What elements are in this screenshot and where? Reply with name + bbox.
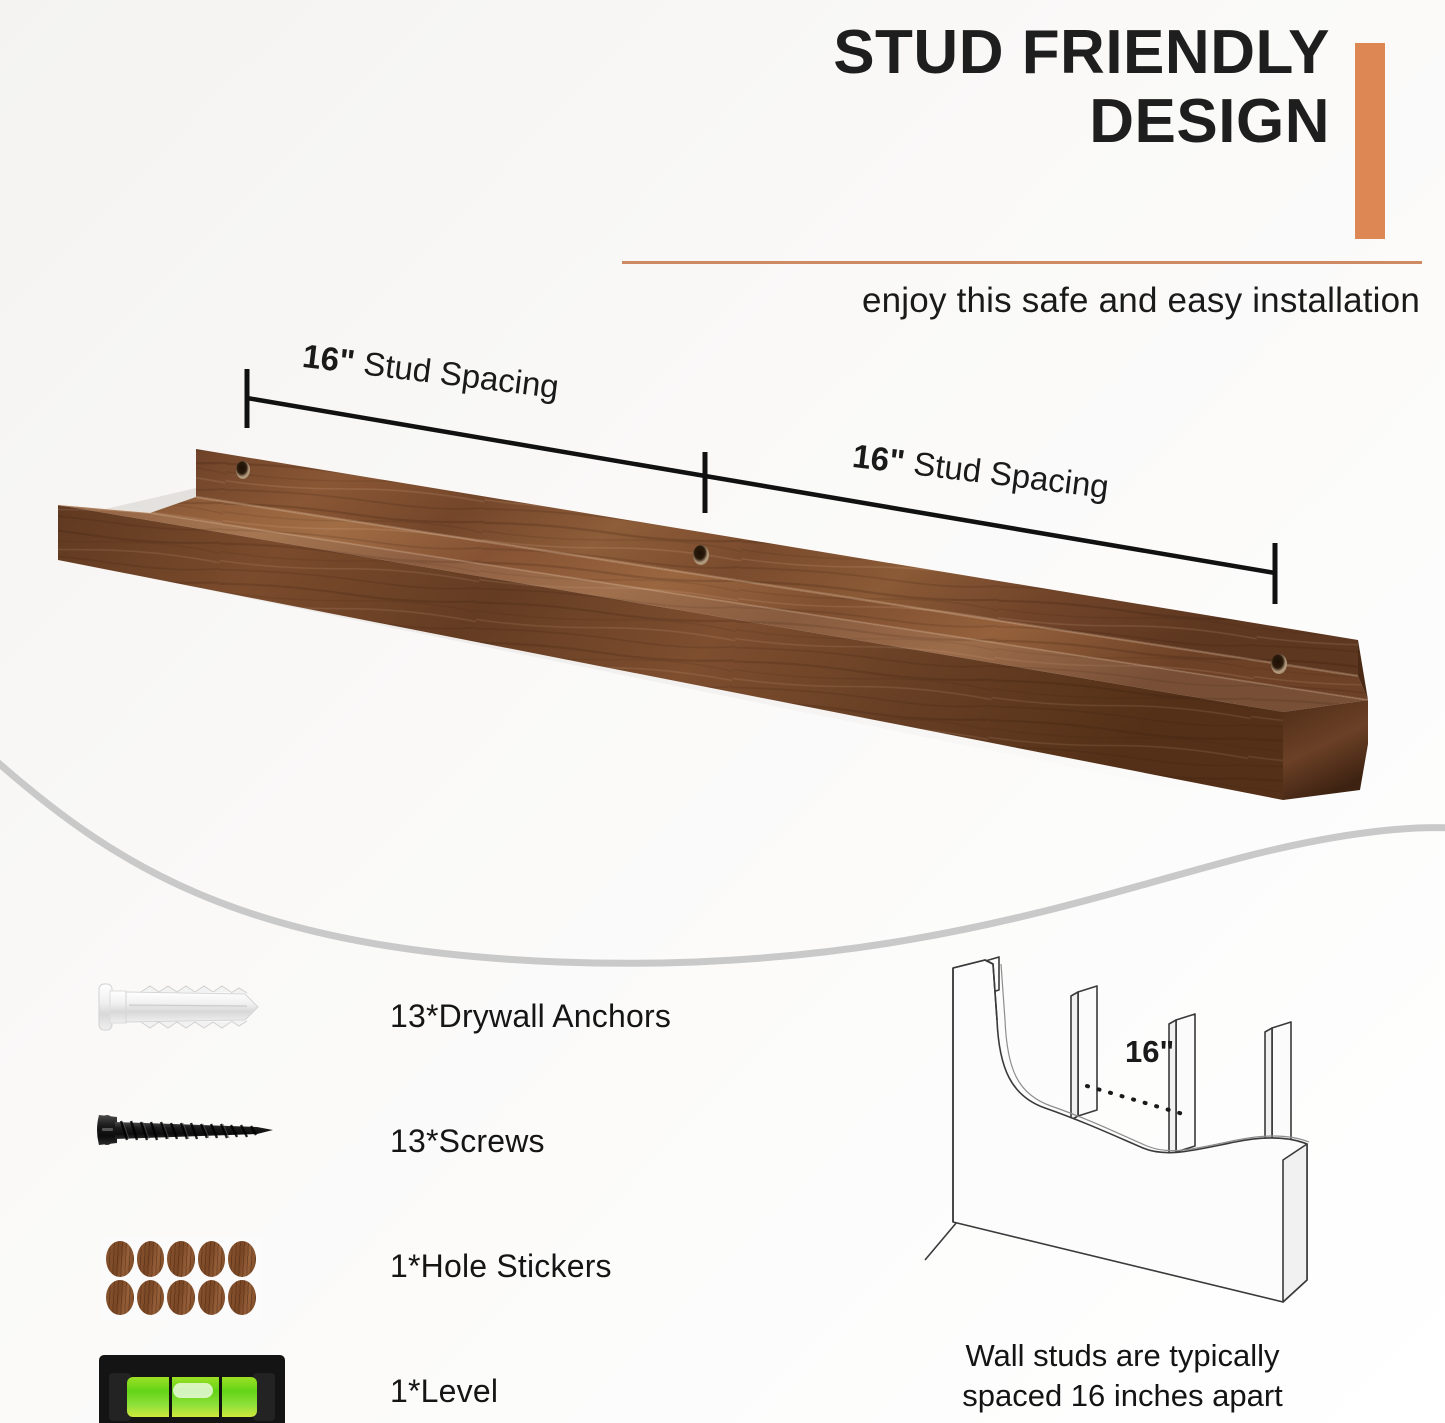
- accent-bar: [1355, 43, 1385, 239]
- wall-stud-svg: 16": [915, 950, 1345, 1310]
- sticker-dot: [106, 1280, 134, 1316]
- parts-list: 13*Drywall Anchors: [95, 972, 735, 1423]
- header-subtitle: enjoy this safe and easy installation: [615, 281, 1420, 321]
- stud-measure-label: 16": [1125, 1034, 1174, 1069]
- sticker-dot: [198, 1241, 226, 1277]
- screw-hole-right: [1271, 654, 1287, 674]
- drywall-panel: [953, 960, 1307, 1302]
- part-label-level: 1*Level: [390, 1373, 498, 1410]
- sticker-dot: [167, 1241, 195, 1277]
- shelf-back-lip: [196, 449, 1358, 676]
- drywall-anchor-icon: [95, 972, 305, 1082]
- shelf-shadow: [58, 486, 1368, 796]
- screw-icon: [95, 1097, 305, 1207]
- part-row-screws: 13*Screws: [95, 1097, 735, 1222]
- part-row-anchors: 13*Drywall Anchors: [95, 972, 735, 1097]
- sticker-dot: [137, 1241, 165, 1277]
- sticker-dot: [198, 1280, 226, 1316]
- wall-stud-diagram: 16": [915, 950, 1345, 1310]
- part-row-level: 1*Level: [95, 1347, 735, 1423]
- screw-hole-center: [693, 545, 709, 565]
- infographic-page: STUD FRIENDLY DESIGN enjoy this safe and…: [0, 0, 1445, 1423]
- title-line-2: DESIGN: [615, 87, 1330, 156]
- shelf-right-end: [1283, 700, 1368, 800]
- dim-label-left: 16" Stud Spacing: [300, 337, 561, 406]
- dim-line: [247, 398, 1275, 573]
- hole-stickers-icon: [95, 1222, 305, 1332]
- part-label-stickers: 1*Hole Stickers: [390, 1248, 612, 1285]
- header-divider-rule: [622, 261, 1422, 264]
- stud-caption-line-1: Wall studs are typically: [900, 1336, 1345, 1376]
- part-row-stickers: 1*Hole Stickers: [95, 1222, 735, 1347]
- shelf-front-lip-top: [58, 505, 1368, 712]
- stud: [1071, 986, 1097, 1120]
- shelf-top-surface: [150, 497, 1368, 700]
- page-title: STUD FRIENDLY DESIGN: [615, 18, 1330, 157]
- part-label-screws: 13*Screws: [390, 1123, 545, 1160]
- sticker-dot: [106, 1241, 134, 1277]
- screw-hole-left: [236, 461, 250, 479]
- sticker-dot: [167, 1280, 195, 1316]
- header-block: STUD FRIENDLY DESIGN enjoy this safe and…: [615, 18, 1425, 318]
- sticker-dot: [228, 1280, 256, 1316]
- stud-diagram-caption: Wall studs are typically spaced 16 inche…: [900, 1336, 1345, 1415]
- dim-label-right: 16" Stud Spacing: [850, 437, 1111, 506]
- part-label-anchors: 13*Drywall Anchors: [390, 998, 671, 1035]
- title-line-1: STUD FRIENDLY: [615, 18, 1330, 87]
- level-icon: [95, 1347, 305, 1423]
- shelf-front-face: [58, 505, 1283, 800]
- sticker-dot: [137, 1280, 165, 1316]
- sticker-dot: [228, 1241, 256, 1277]
- stud-caption-line-2: spaced 16 inches apart: [900, 1376, 1345, 1416]
